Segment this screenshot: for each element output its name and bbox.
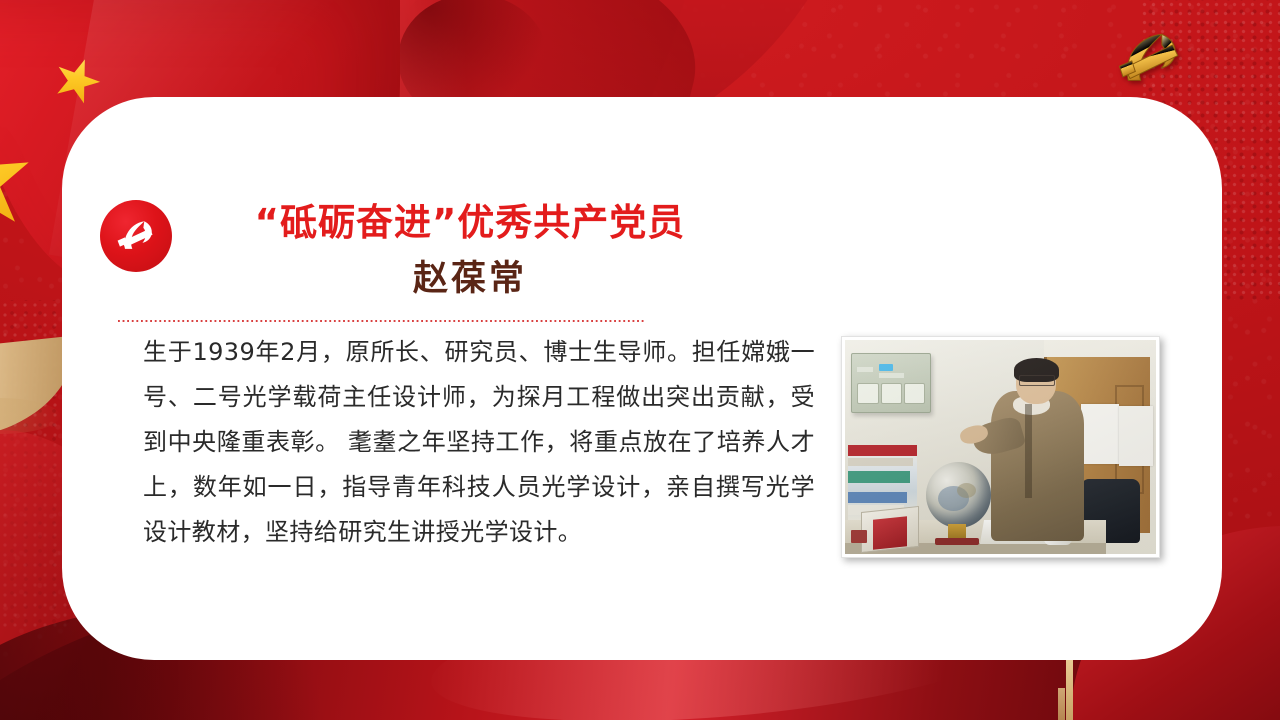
gold-accent-line-bottom xyxy=(1066,660,1073,720)
title-block: “砥砺奋进”优秀共产党员 赵葆常 xyxy=(185,198,755,304)
party-emblem-badge-icon xyxy=(100,200,172,272)
portrait-photo-frame xyxy=(841,336,1160,558)
photo-overlay-shine xyxy=(845,340,1156,554)
hammer-sickle-emblem-icon xyxy=(1108,22,1198,98)
page-title: “砥砺奋进”优秀共产党员 xyxy=(185,198,755,248)
dotted-divider xyxy=(118,320,646,322)
slide-root: “砥砺奋进”优秀共产党员 赵葆常 生于1939年2月，原所长、研究员、博士生导师… xyxy=(0,0,1280,720)
biography-paragraph: 生于1939年2月，原所长、研究员、博士生导师。担任嫦娥一号、二号光学载荷主任设… xyxy=(143,330,815,555)
gold-accent-line-bottom-2 xyxy=(1058,688,1065,720)
portrait-photo xyxy=(845,340,1156,554)
person-name: 赵葆常 xyxy=(185,254,755,304)
